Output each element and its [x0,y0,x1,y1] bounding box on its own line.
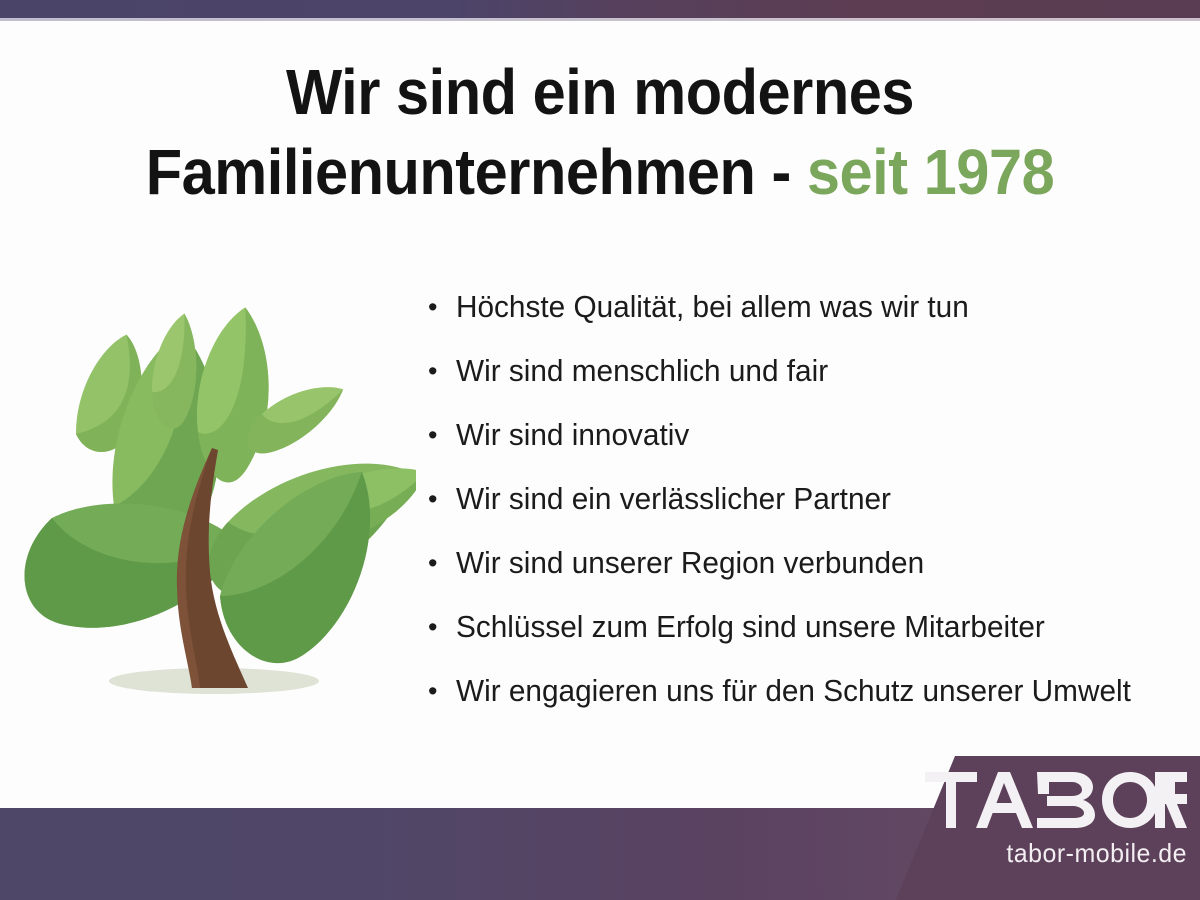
list-item-label: Wir sind ein verlässlicher Partner [456,478,891,520]
headline-highlight-year: seit 1978 [807,136,1054,208]
list-item: • Wir sind innovativ [424,414,1194,478]
bullet-dot-icon: • [424,286,456,328]
list-item: • Schlüssel zum Erfolg sind unsere Mitar… [424,606,1194,670]
bullet-list: • Höchste Qualität, bei allem was wir tu… [424,286,1194,734]
headline-line-2: Familienunternehmen - seit 1978 [42,132,1158,212]
list-item: • Wir sind unserer Region verbunden [424,542,1194,606]
list-item: • Wir sind ein verlässlicher Partner [424,478,1194,542]
bullet-dot-icon: • [424,606,456,648]
list-item-label: Wir sind innovativ [456,414,689,456]
top-accent-bar-hairline [0,18,1200,21]
headline-line-1: Wir sind ein modernes [42,52,1158,132]
list-item: • Wir sind menschlich und fair [424,350,1194,414]
logo-tagline: tabor-mobile.de [935,838,1187,868]
top-accent-bar [0,0,1200,18]
page-title: Wir sind ein modernes Familienunternehme… [42,52,1158,212]
tabor-wordmark-logo [925,772,1187,828]
list-item-label: Schlüssel zum Erfolg sind unsere Mitarbe… [456,606,1045,648]
list-item-label: Höchste Qualität, bei allem was wir tun [456,286,969,328]
bullet-dot-icon: • [424,350,456,392]
headline-line-2-black: Familienunternehmen - [146,136,807,208]
slide-canvas: Wir sind ein modernes Familienunternehme… [0,0,1200,900]
list-item: • Wir engagieren uns für den Schutz unse… [424,670,1194,734]
list-item-label: Wir sind menschlich und fair [456,350,828,392]
bullet-dot-icon: • [424,542,456,584]
bullet-dot-icon: • [424,478,456,520]
list-item-label: Wir sind unserer Region verbunden [456,542,924,584]
bullet-dot-icon: • [424,670,456,712]
tree-illustration [16,296,416,714]
bullet-dot-icon: • [424,414,456,456]
list-item-label: Wir engagieren uns für den Schutz unsere… [456,670,1131,712]
list-item: • Höchste Qualität, bei allem was wir tu… [424,286,1194,350]
